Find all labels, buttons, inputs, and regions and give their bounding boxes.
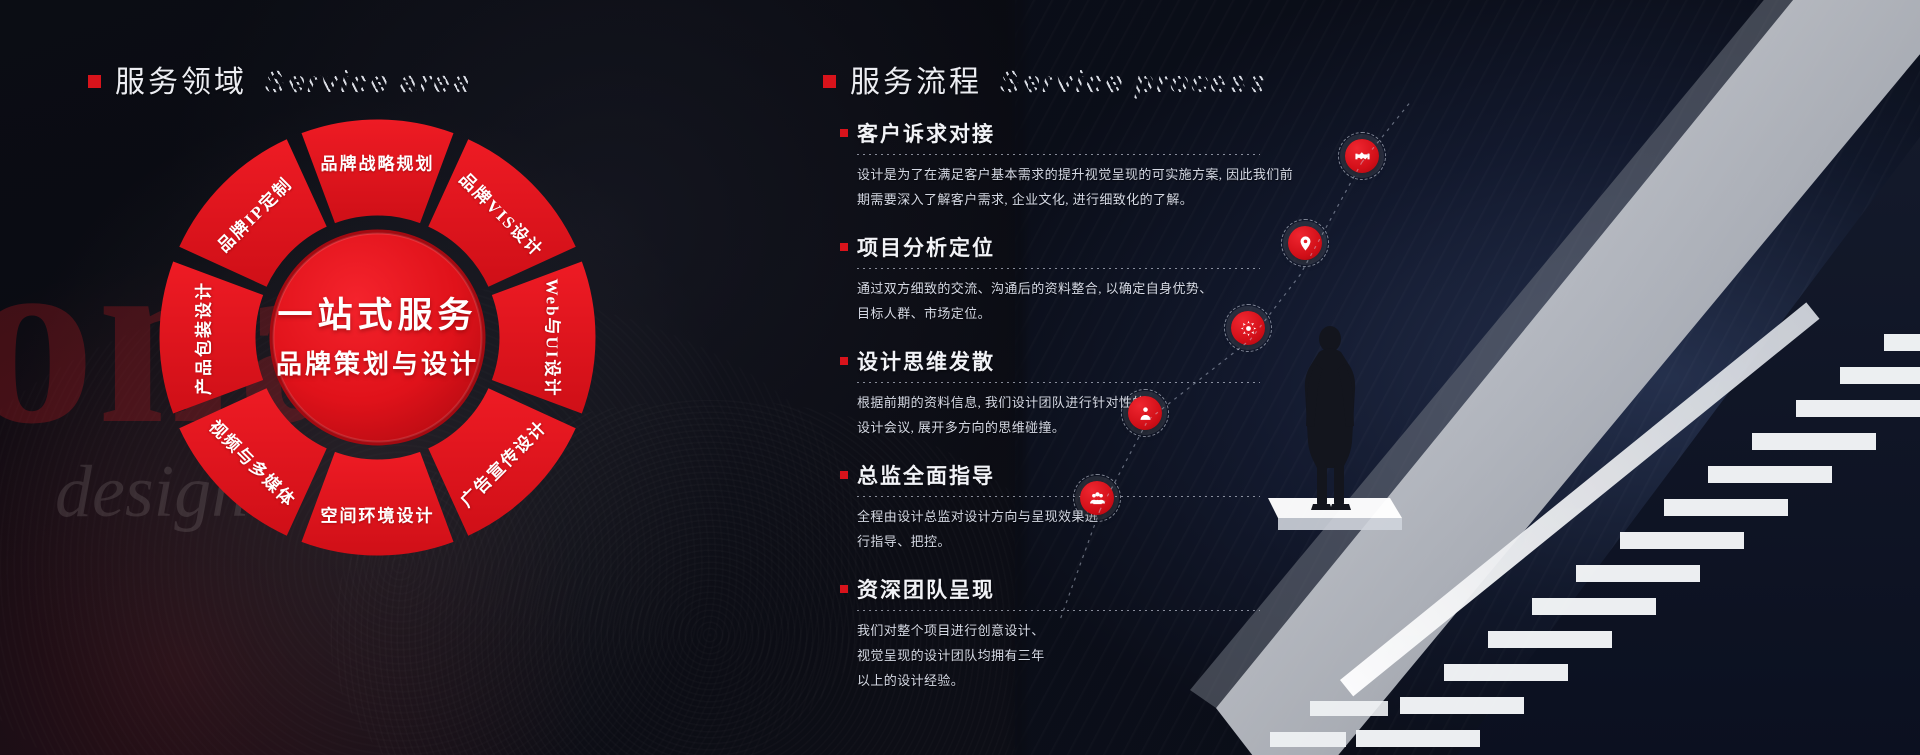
process-item[interactable]: 设计思维发散根据前期的资料信息, 我们设计团队进行针对性的设计会议, 展开多方向… (840, 346, 1260, 441)
process-description-line: 全程由设计总监对设计方向与呈现效果进 (857, 505, 1260, 530)
title-bullet-square (823, 75, 836, 88)
process-item[interactable]: 总监全面指导全程由设计总监对设计方向与呈现效果进行指导、把控。 (840, 460, 1260, 555)
service-area-donut-diagram: 品牌战略规划品牌VIS设计Web与UI设计广告宣传设计空间环境设计视频与多媒体产… (155, 115, 600, 560)
process-item-header: 资深团队呈现 (840, 574, 1260, 604)
process-bullet-square (840, 585, 848, 593)
process-item-description: 通过双方细致的交流、沟通后的资料整合, 以确定自身优势、目标人群、市场定位。 (857, 277, 1260, 327)
process-description-line: 期需要深入了解客户需求, 企业文化, 进行细致化的了解。 (857, 188, 1260, 213)
process-description-line: 我们对整个项目进行创意设计、 (857, 619, 1260, 644)
donut-segment[interactable] (302, 119, 454, 223)
process-node-handshake-icon[interactable] (1345, 139, 1379, 173)
process-item-divider (857, 382, 1260, 383)
process-item-header: 项目分析定位 (840, 232, 1260, 262)
process-item-description: 根据前期的资料信息, 我们设计团队进行针对性的设计会议, 展开多方向的思维碰撞。 (857, 391, 1260, 441)
staircase-illustration (1150, 0, 1920, 755)
process-description-line: 目标人群、市场定位。 (857, 302, 1260, 327)
process-item[interactable]: 客户诉求对接设计是为了在满足客户基本需求的提升视觉呈现的可实施方案, 因此我们前… (840, 118, 1260, 213)
process-bullet-square (840, 243, 848, 251)
process-description-line: 设计会议, 展开多方向的思维碰撞。 (857, 416, 1260, 441)
process-item[interactable]: 项目分析定位通过双方细致的交流、沟通后的资料整合, 以确定自身优势、目标人群、市… (840, 232, 1260, 327)
process-item-divider (857, 154, 1260, 155)
process-bullet-square (840, 129, 848, 137)
process-item-title: 项目分析定位 (857, 232, 995, 262)
process-bullet-square (840, 471, 848, 479)
section-title-cn: 服务流程 (850, 57, 982, 101)
process-node-team-group-icon[interactable] (1080, 481, 1114, 515)
process-item-title: 资深团队呈现 (857, 574, 995, 604)
process-description-line: 根据前期的资料信息, 我们设计团队进行针对性的 (857, 391, 1260, 416)
process-description-line: 通过双方细致的交流、沟通后的资料整合, 以确定自身优势、 (857, 277, 1260, 302)
section-title-en: Service process (1000, 64, 1268, 100)
process-item-header: 总监全面指导 (840, 460, 1260, 490)
process-description-line: 行指导、把控。 (857, 530, 1260, 555)
process-node-target-pin-icon[interactable] (1288, 226, 1322, 260)
process-item-divider (857, 496, 1260, 497)
process-item-description: 我们对整个项目进行创意设计、视觉呈现的设计团队均拥有三年以上的设计经验。 (857, 619, 1260, 694)
section-title-service-area: 服务领域 Service area (88, 57, 472, 101)
process-description-line: 视觉呈现的设计团队均拥有三年 (857, 644, 1260, 669)
process-item-title: 设计思维发散 (857, 346, 995, 376)
process-item-description: 设计是为了在满足客户基本需求的提升视觉呈现的可实施方案, 因此我们前期需要深入了… (857, 163, 1260, 213)
process-description-line: 以上的设计经验。 (857, 669, 1260, 694)
donut-segment[interactable] (159, 262, 263, 414)
slide-canvas: ona design (0, 0, 1920, 755)
section-title-service-process: 服务流程 Service process (823, 57, 1268, 101)
section-title-en: Service area (265, 64, 472, 100)
process-item-header: 设计思维发散 (840, 346, 1260, 376)
process-description-line: 设计是为了在满足客户基本需求的提升视觉呈现的可实施方案, 因此我们前 (857, 163, 1260, 188)
donut-segments (155, 115, 600, 560)
title-bullet-square (88, 75, 101, 88)
donut-segment[interactable] (302, 452, 454, 556)
process-item-divider (857, 610, 1260, 611)
process-item-title: 客户诉求对接 (857, 118, 995, 148)
process-item[interactable]: 资深团队呈现我们对整个项目进行创意设计、视觉呈现的设计团队均拥有三年以上的设计经… (840, 574, 1260, 694)
process-item-description: 全程由设计总监对设计方向与呈现效果进行指导、把控。 (857, 505, 1260, 555)
section-title-cn: 服务领域 (115, 57, 247, 101)
businessman-silhouette (1305, 326, 1355, 510)
process-item-title: 总监全面指导 (857, 460, 995, 490)
service-process-list: 客户诉求对接设计是为了在满足客户基本需求的提升视觉呈现的可实施方案, 因此我们前… (840, 118, 1260, 712)
process-bullet-square (840, 357, 848, 365)
donut-segment[interactable] (492, 262, 596, 414)
process-item-divider (857, 268, 1260, 269)
process-item-header: 客户诉求对接 (840, 118, 1260, 148)
process-node-director-person-icon[interactable] (1128, 396, 1162, 430)
process-node-idea-burst-icon[interactable] (1231, 311, 1265, 345)
